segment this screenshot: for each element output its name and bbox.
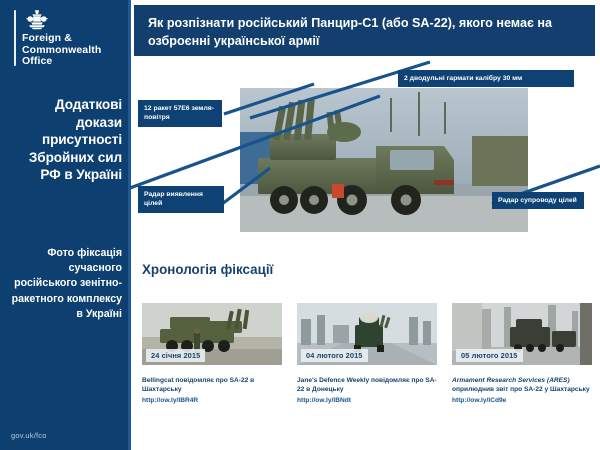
- sidebar: Foreign & Commonwealth Office Додаткові …: [0, 0, 128, 450]
- date-badge: 04 лютого 2015: [301, 349, 368, 362]
- royal-crest-icon: [22, 9, 52, 30]
- callout-guns: 2 дводульні гармати калібру 30 мм: [398, 70, 574, 87]
- card-caption: Jane's Defence Weekly повідомляє про SA-…: [297, 376, 437, 405]
- timeline-card: 04 лютого 2015 Jane's Defence Weekly пов…: [297, 303, 437, 405]
- brand-lockup: Foreign & Commonwealth Office: [14, 9, 124, 68]
- card-caption: Bellingcat повідомляє про SA-22 в Шахтар…: [142, 376, 282, 405]
- brand-name: Foreign & Commonwealth Office: [22, 33, 101, 68]
- sidebar-edge-rule: [128, 0, 131, 450]
- caption-lead: Armament Research Services (ARES): [452, 377, 570, 384]
- timeline-title: Хронологія фіксації: [142, 262, 273, 277]
- slide: Foreign & Commonwealth Office Додаткові …: [0, 0, 600, 450]
- source-link[interactable]: http://ow.ly/ICd9e: [452, 396, 592, 405]
- date-badge: 05 лютого 2015: [456, 349, 523, 362]
- page-title: Як розпізнати російський Панцир-С1 (або …: [148, 14, 584, 50]
- timeline-card: 05 лютого 2015 Armament Research Service…: [452, 303, 592, 405]
- sidebar-headline: Додаткові докази присутності Збройних си…: [6, 96, 122, 184]
- caption-text: оприлюднив звіт про SA-22 у Шахтарську: [452, 386, 590, 393]
- source-link[interactable]: http://ow.ly/IBNdt: [297, 396, 437, 405]
- date-badge: 24 січня 2015: [146, 349, 205, 362]
- sidebar-subtext: Фото фіксація сучасного російського зені…: [6, 246, 122, 322]
- card-caption: Armament Research Services (ARES) оприлю…: [452, 376, 592, 405]
- thumbnail-image: 05 лютого 2015: [452, 303, 592, 365]
- hero-photo: [240, 88, 528, 232]
- timeline-card: 24 січня 2015 Bellingcat повідомляє про …: [142, 303, 282, 405]
- thumbnail-image: 04 лютого 2015: [297, 303, 437, 365]
- timeline-cards: 24 січня 2015 Bellingcat повідомляє про …: [142, 303, 594, 443]
- callout-tracking-radar: Радар супроводу цілей: [492, 192, 584, 209]
- caption-text: Jane's Defence Weekly повідомляє про SA-…: [297, 377, 437, 393]
- gov-uk-footer: gov.uk/fco: [11, 431, 47, 440]
- callout-missiles: 12 ракет 57Е6 земля-повітря: [138, 100, 222, 127]
- source-link[interactable]: http://ow.ly/IBR4R: [142, 396, 282, 405]
- caption-text: Bellingcat повідомляє про SA-22 в Шахтар…: [142, 377, 254, 393]
- callout-detection-radar: Радар виявлення цілей: [138, 186, 224, 213]
- header-band: Як розпізнати російський Панцир-С1 (або …: [134, 5, 595, 56]
- brand-divider: [14, 10, 16, 66]
- thumbnail-image: 24 січня 2015: [142, 303, 282, 365]
